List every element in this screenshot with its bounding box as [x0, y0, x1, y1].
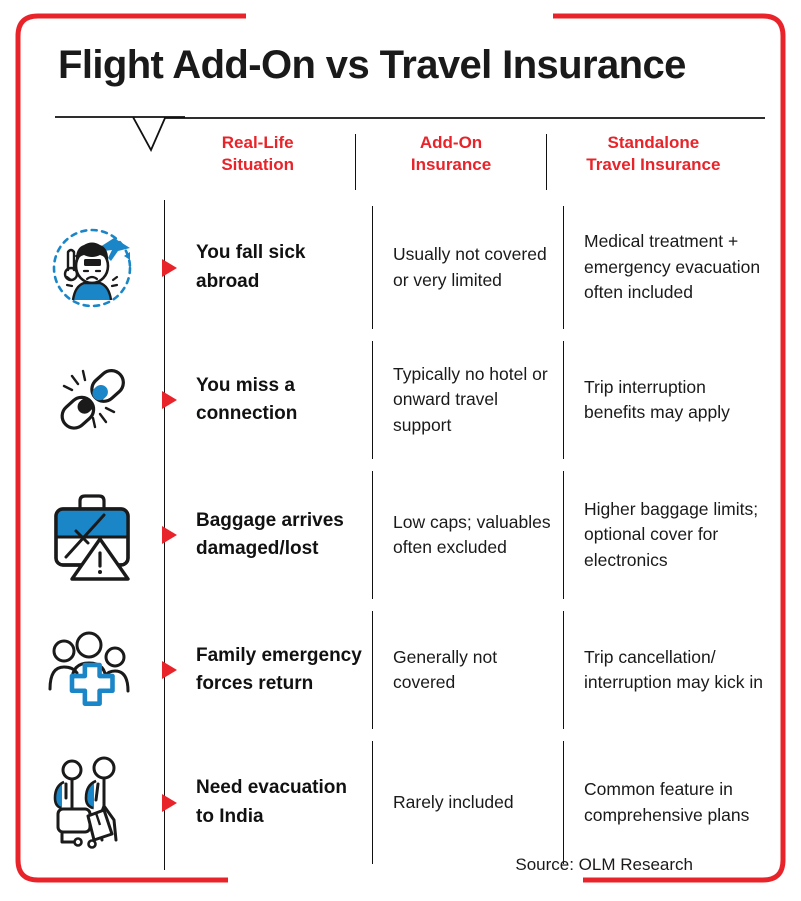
cell-situation: You fall sick abroad [176, 200, 372, 335]
source-attribution: Source: OLM Research [515, 855, 693, 875]
table-row: Need evacuation to India Rarely included… [32, 735, 772, 870]
column-header-addon-line1: Add-On [362, 132, 539, 154]
row-divider [152, 735, 176, 870]
travelers-evacuation-icon [42, 754, 142, 852]
cell-situation: Need evacuation to India [176, 735, 372, 870]
cell-addon: Generally not covered [373, 605, 563, 735]
column-header-addon-line2: Insurance [362, 154, 539, 176]
red-arrow-icon [162, 661, 177, 679]
red-arrow-icon [162, 794, 177, 812]
cell-addon: Low caps; valuables often excluded [373, 465, 563, 605]
cell-standalone: Higher baggage limits; optional cover fo… [564, 465, 778, 605]
sick-traveler-icon [42, 218, 142, 318]
damaged-baggage-icon [42, 487, 142, 583]
column-headers: Real-Life Situation Add-On Insurance Sta… [160, 132, 760, 194]
table-row: Family emergency forces return Generally… [32, 605, 772, 735]
table-row: You miss a connection Typically no hotel… [32, 335, 772, 465]
cell-standalone: Trip cancellation/ interruption may kick… [564, 605, 778, 735]
broken-chain-icon [42, 354, 142, 446]
column-header-situation-line2: Situation [166, 154, 349, 176]
cell-addon: Typically no hotel or onward travel supp… [373, 335, 563, 465]
row-icon-cell [32, 200, 152, 335]
column-header-addon: Add-On Insurance [356, 132, 545, 177]
row-divider [152, 335, 176, 465]
cell-situation: Family emergency forces return [176, 605, 372, 735]
row-icon-cell [32, 465, 152, 605]
table-row: Baggage arrives damaged/lost Low caps; v… [32, 465, 772, 605]
column-header-standalone: Standalone Travel Insurance [547, 132, 760, 177]
table-row: You fall sick abroad Usually not covered… [32, 200, 772, 335]
cell-situation: You miss a connection [176, 335, 372, 465]
comparison-table: You fall sick abroad Usually not covered… [32, 200, 772, 870]
row-divider [152, 200, 176, 335]
row-divider [152, 465, 176, 605]
cell-addon: Rarely included [373, 735, 563, 870]
family-emergency-icon [42, 623, 142, 717]
cell-addon: Usually not covered or very limited [373, 200, 563, 335]
column-header-standalone-line1: Standalone [553, 132, 754, 154]
cell-standalone: Common feature in comprehensive plans [564, 735, 778, 870]
row-icon-cell [32, 335, 152, 465]
row-icon-cell [32, 735, 152, 870]
page-title: Flight Add-On vs Travel Insurance [58, 44, 758, 87]
row-divider [152, 605, 176, 735]
column-header-standalone-line2: Travel Insurance [553, 154, 754, 176]
red-arrow-icon [162, 526, 177, 544]
row-icon-cell [32, 605, 152, 735]
red-arrow-icon [162, 391, 177, 409]
cell-standalone: Trip interruption benefits may apply [564, 335, 778, 465]
infographic-root: Flight Add-On vs Travel Insurance Real-L… [0, 0, 801, 901]
cell-standalone: Medical treatment + emergency evacuation… [564, 200, 778, 335]
cell-situation: Baggage arrives damaged/lost [176, 465, 372, 605]
column-header-situation-line1: Real-Life [166, 132, 349, 154]
column-header-situation: Real-Life Situation [160, 132, 355, 177]
red-arrow-icon [162, 259, 177, 277]
title-text: Flight Add-On vs Travel Insurance [58, 44, 758, 87]
